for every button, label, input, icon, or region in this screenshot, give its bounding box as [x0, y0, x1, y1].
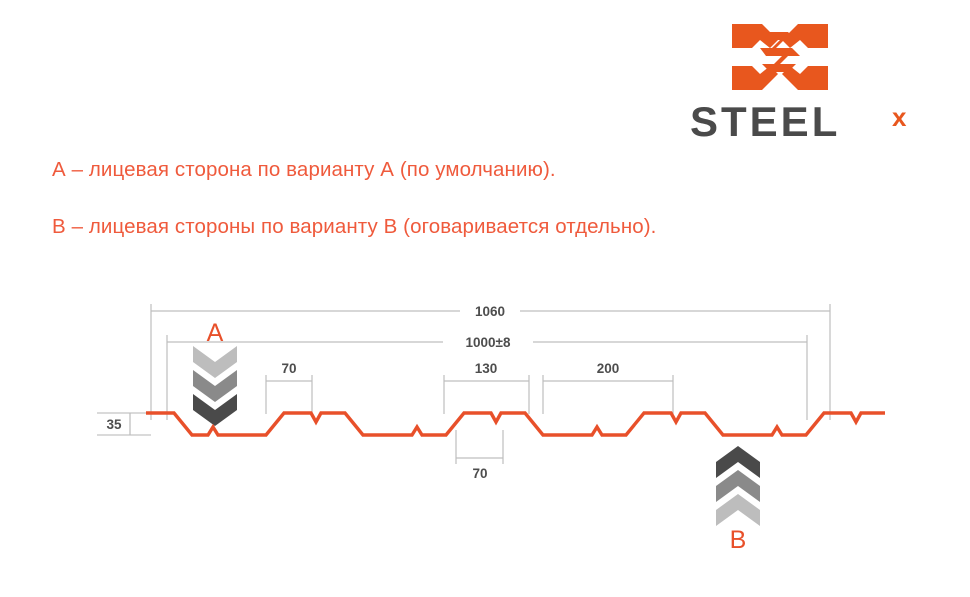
side-a-marker: А	[193, 319, 237, 426]
chevron-down-triple-icon	[193, 346, 237, 426]
dimension-profile-height-label: 35	[106, 417, 122, 432]
logo-wordmark: STEEL x	[690, 100, 940, 144]
corrugated-profile-outline	[146, 413, 885, 435]
logo-wordmark-superscript: x	[892, 102, 907, 132]
dimension-crest-top: 70	[266, 361, 312, 414]
profile-technical-drawing: 1060 1000±8 70 130 200 70	[0, 280, 970, 560]
dimension-valley-width-label: 70	[472, 466, 487, 481]
dimension-crest-top-label: 70	[281, 361, 296, 376]
brand-logo: STEEL x	[690, 18, 940, 143]
dimension-wave-pitch: 200	[543, 361, 673, 414]
side-a-marker-label: А	[207, 319, 224, 347]
dimension-rib-pitch-label: 130	[475, 361, 498, 376]
dimension-wave-pitch-label: 200	[597, 361, 620, 376]
steelx-x-mark-icon	[730, 18, 830, 96]
logo-wordmark-text: STEEL	[690, 100, 840, 144]
dimension-profile-height: 35	[97, 413, 151, 435]
note-side-b: В – лицевая стороны по варианту В (огова…	[52, 215, 656, 239]
dimension-working-width: 1000±8	[167, 335, 807, 420]
side-b-marker: B	[716, 446, 760, 554]
chevron-up-triple-icon	[716, 446, 760, 526]
dimension-valley-width: 70	[456, 430, 503, 481]
dimension-working-width-label: 1000±8	[466, 335, 511, 350]
note-side-a: А – лицевая сторона по варианту А (по ум…	[52, 158, 556, 182]
dimension-overall-width-label: 1060	[475, 304, 505, 319]
dimension-rib-pitch: 130	[444, 361, 529, 414]
side-b-marker-label: B	[730, 526, 747, 554]
